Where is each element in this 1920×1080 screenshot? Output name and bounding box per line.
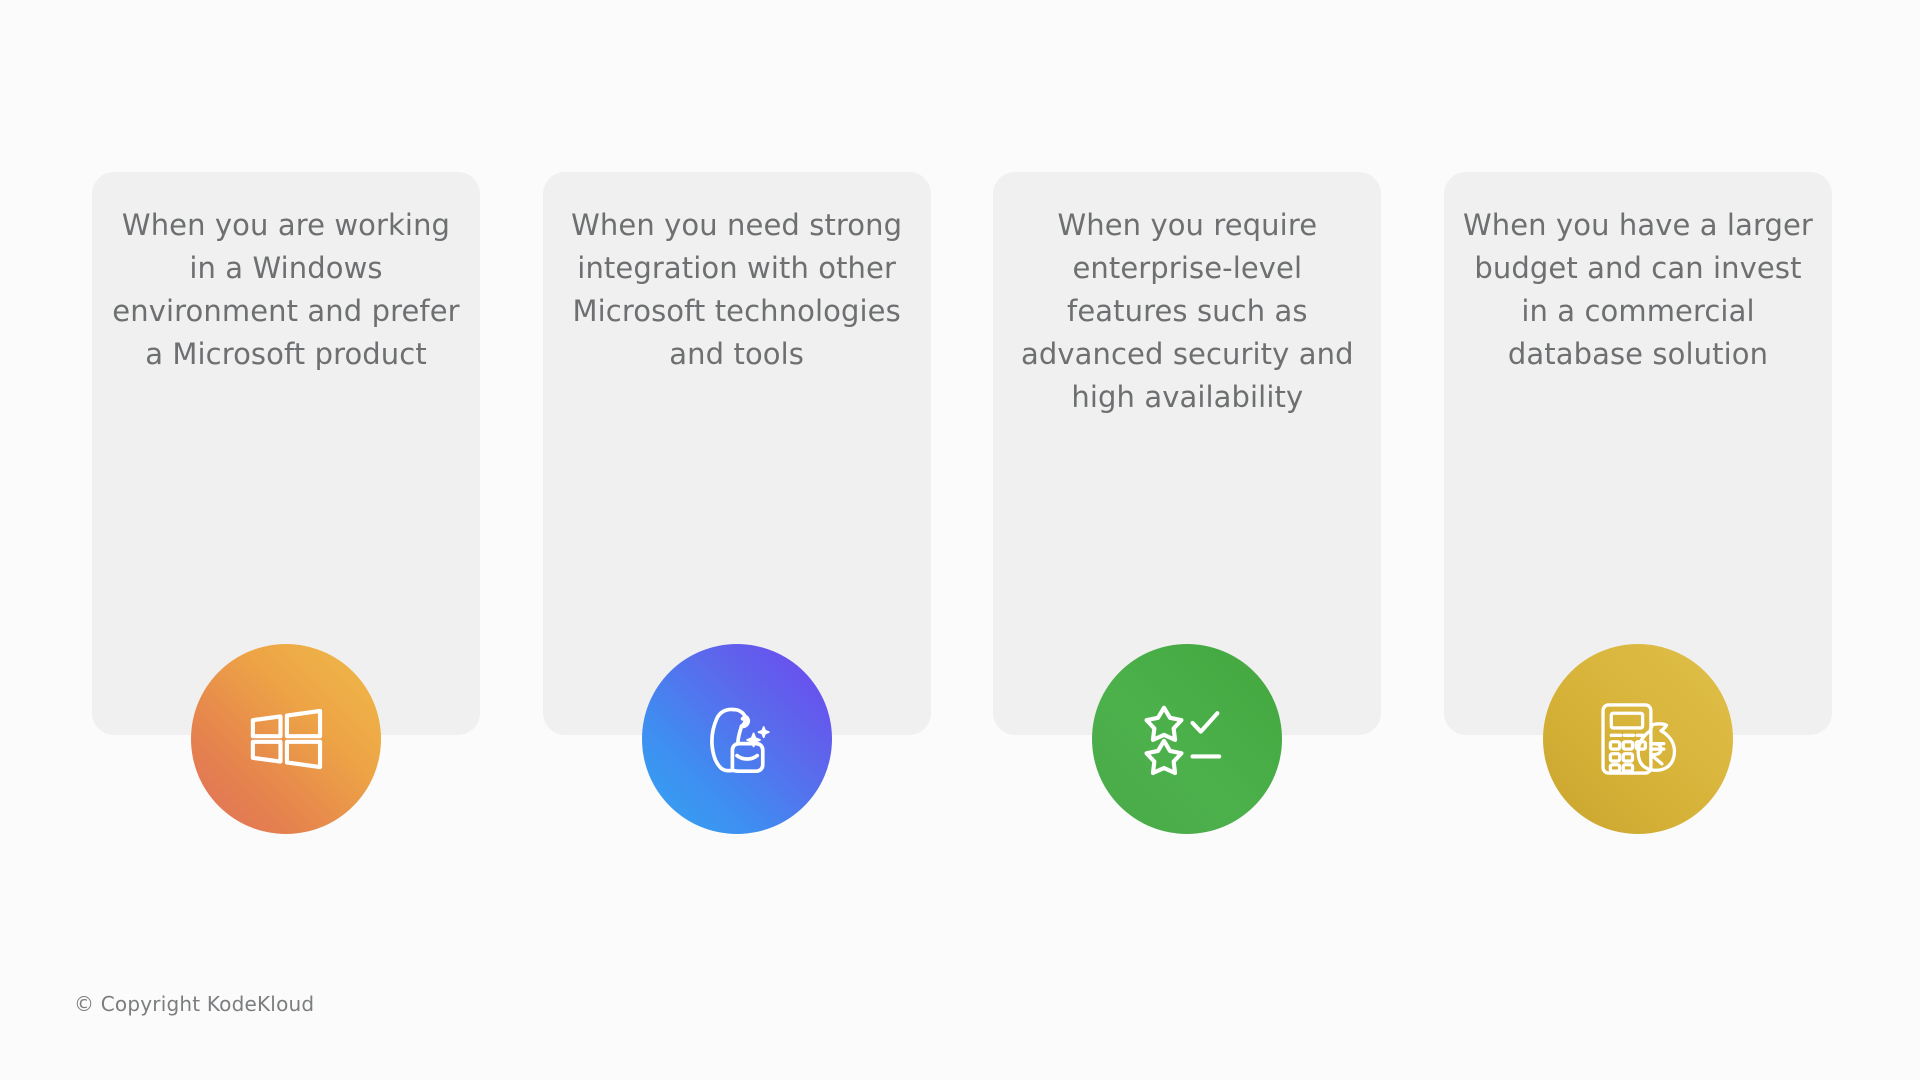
calculator-money-bag-icon [1543, 644, 1733, 834]
flexed-bicep-icon [642, 644, 832, 834]
card-3-text: When you require enterprise-level featur… [1011, 196, 1363, 419]
windows-logo-icon [191, 644, 381, 834]
star-checklist-icon [1092, 644, 1282, 834]
card-2-text: When you need strong integration with ot… [561, 196, 913, 376]
use-case-card-1[interactable]: When you are working in a Windows enviro… [92, 172, 480, 735]
use-case-card-2[interactable]: When you need strong integration with ot… [543, 172, 931, 735]
card-4-text: When you have a larger budget and can in… [1462, 196, 1814, 376]
use-case-card-3[interactable]: When you require enterprise-level featur… [993, 172, 1381, 735]
slide-canvas: When you are working in a Windows enviro… [0, 0, 1920, 1080]
copyright-text: © Copyright KodeKloud [74, 992, 314, 1016]
use-case-card-4[interactable]: When you have a larger budget and can in… [1444, 172, 1832, 735]
card-1-text: When you are working in a Windows enviro… [110, 196, 462, 376]
cards-row: When you are working in a Windows enviro… [92, 172, 1832, 738]
